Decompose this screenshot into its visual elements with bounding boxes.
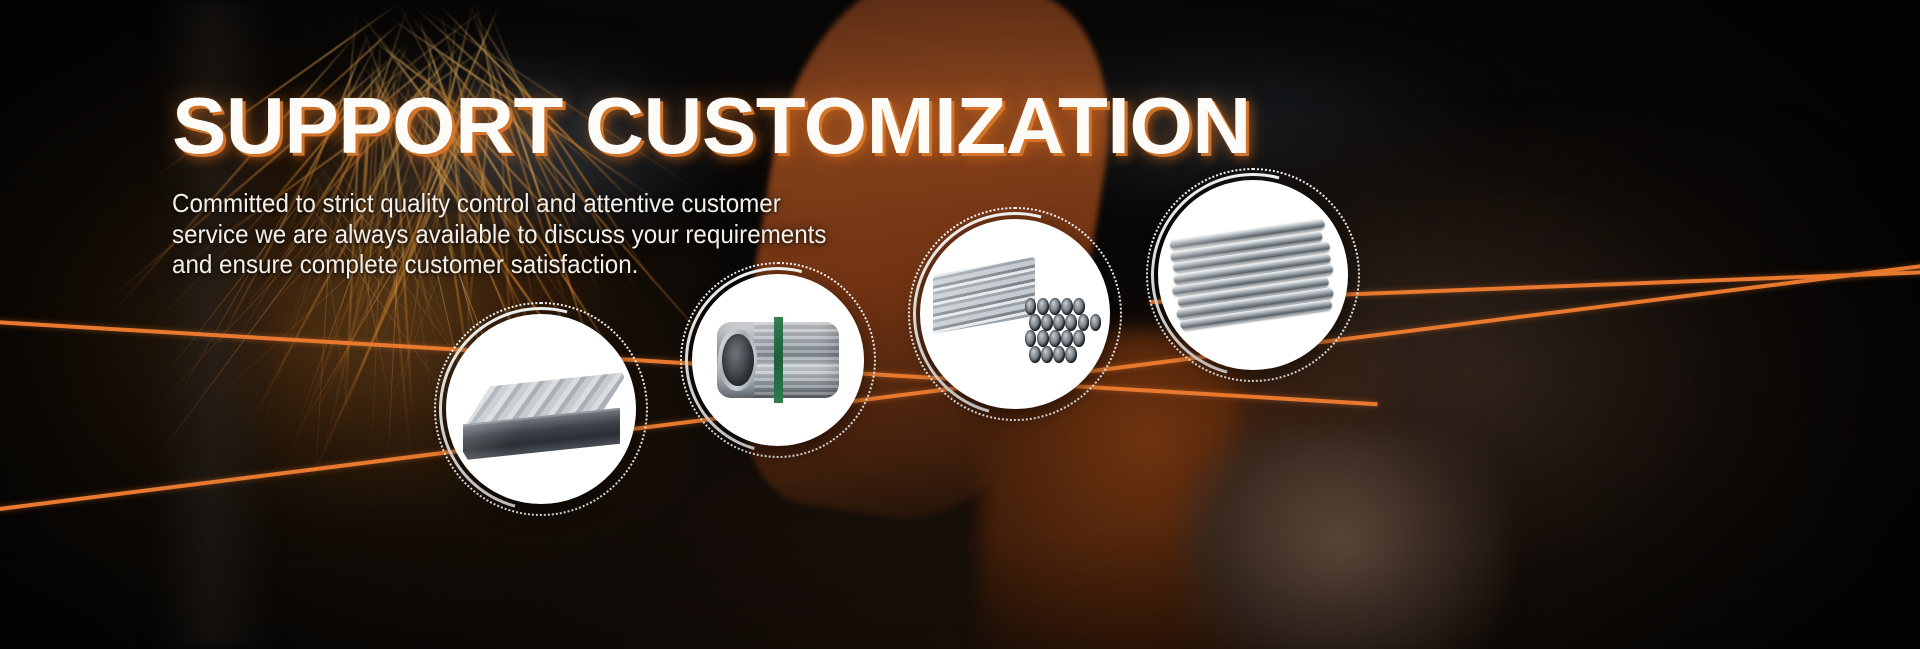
- product-circle-steel-bars[interactable]: [1158, 180, 1348, 370]
- product-photo-steel-sheets: [452, 320, 630, 498]
- product-disc: [692, 274, 864, 446]
- product-highlight: [1164, 186, 1342, 364]
- product-photo-steel-bars: [1164, 186, 1342, 364]
- product-circle-steel-tubes[interactable]: [920, 219, 1110, 409]
- promo-banner: SUPPORT CUSTOMIZATION Committed to stric…: [0, 0, 1920, 649]
- product-photo-steel-tubes: [926, 225, 1104, 403]
- product-disc: [446, 314, 636, 504]
- product-circle-steel-sheets[interactable]: [446, 314, 636, 504]
- product-highlight: [452, 320, 630, 498]
- product-photo-steel-coil: [698, 280, 858, 440]
- product-disc: [920, 219, 1110, 409]
- product-disc: [1158, 180, 1348, 370]
- product-circle-group: [0, 0, 1920, 649]
- product-highlight: [926, 225, 1104, 403]
- product-highlight: [698, 280, 858, 440]
- product-circle-steel-coil[interactable]: [692, 274, 864, 446]
